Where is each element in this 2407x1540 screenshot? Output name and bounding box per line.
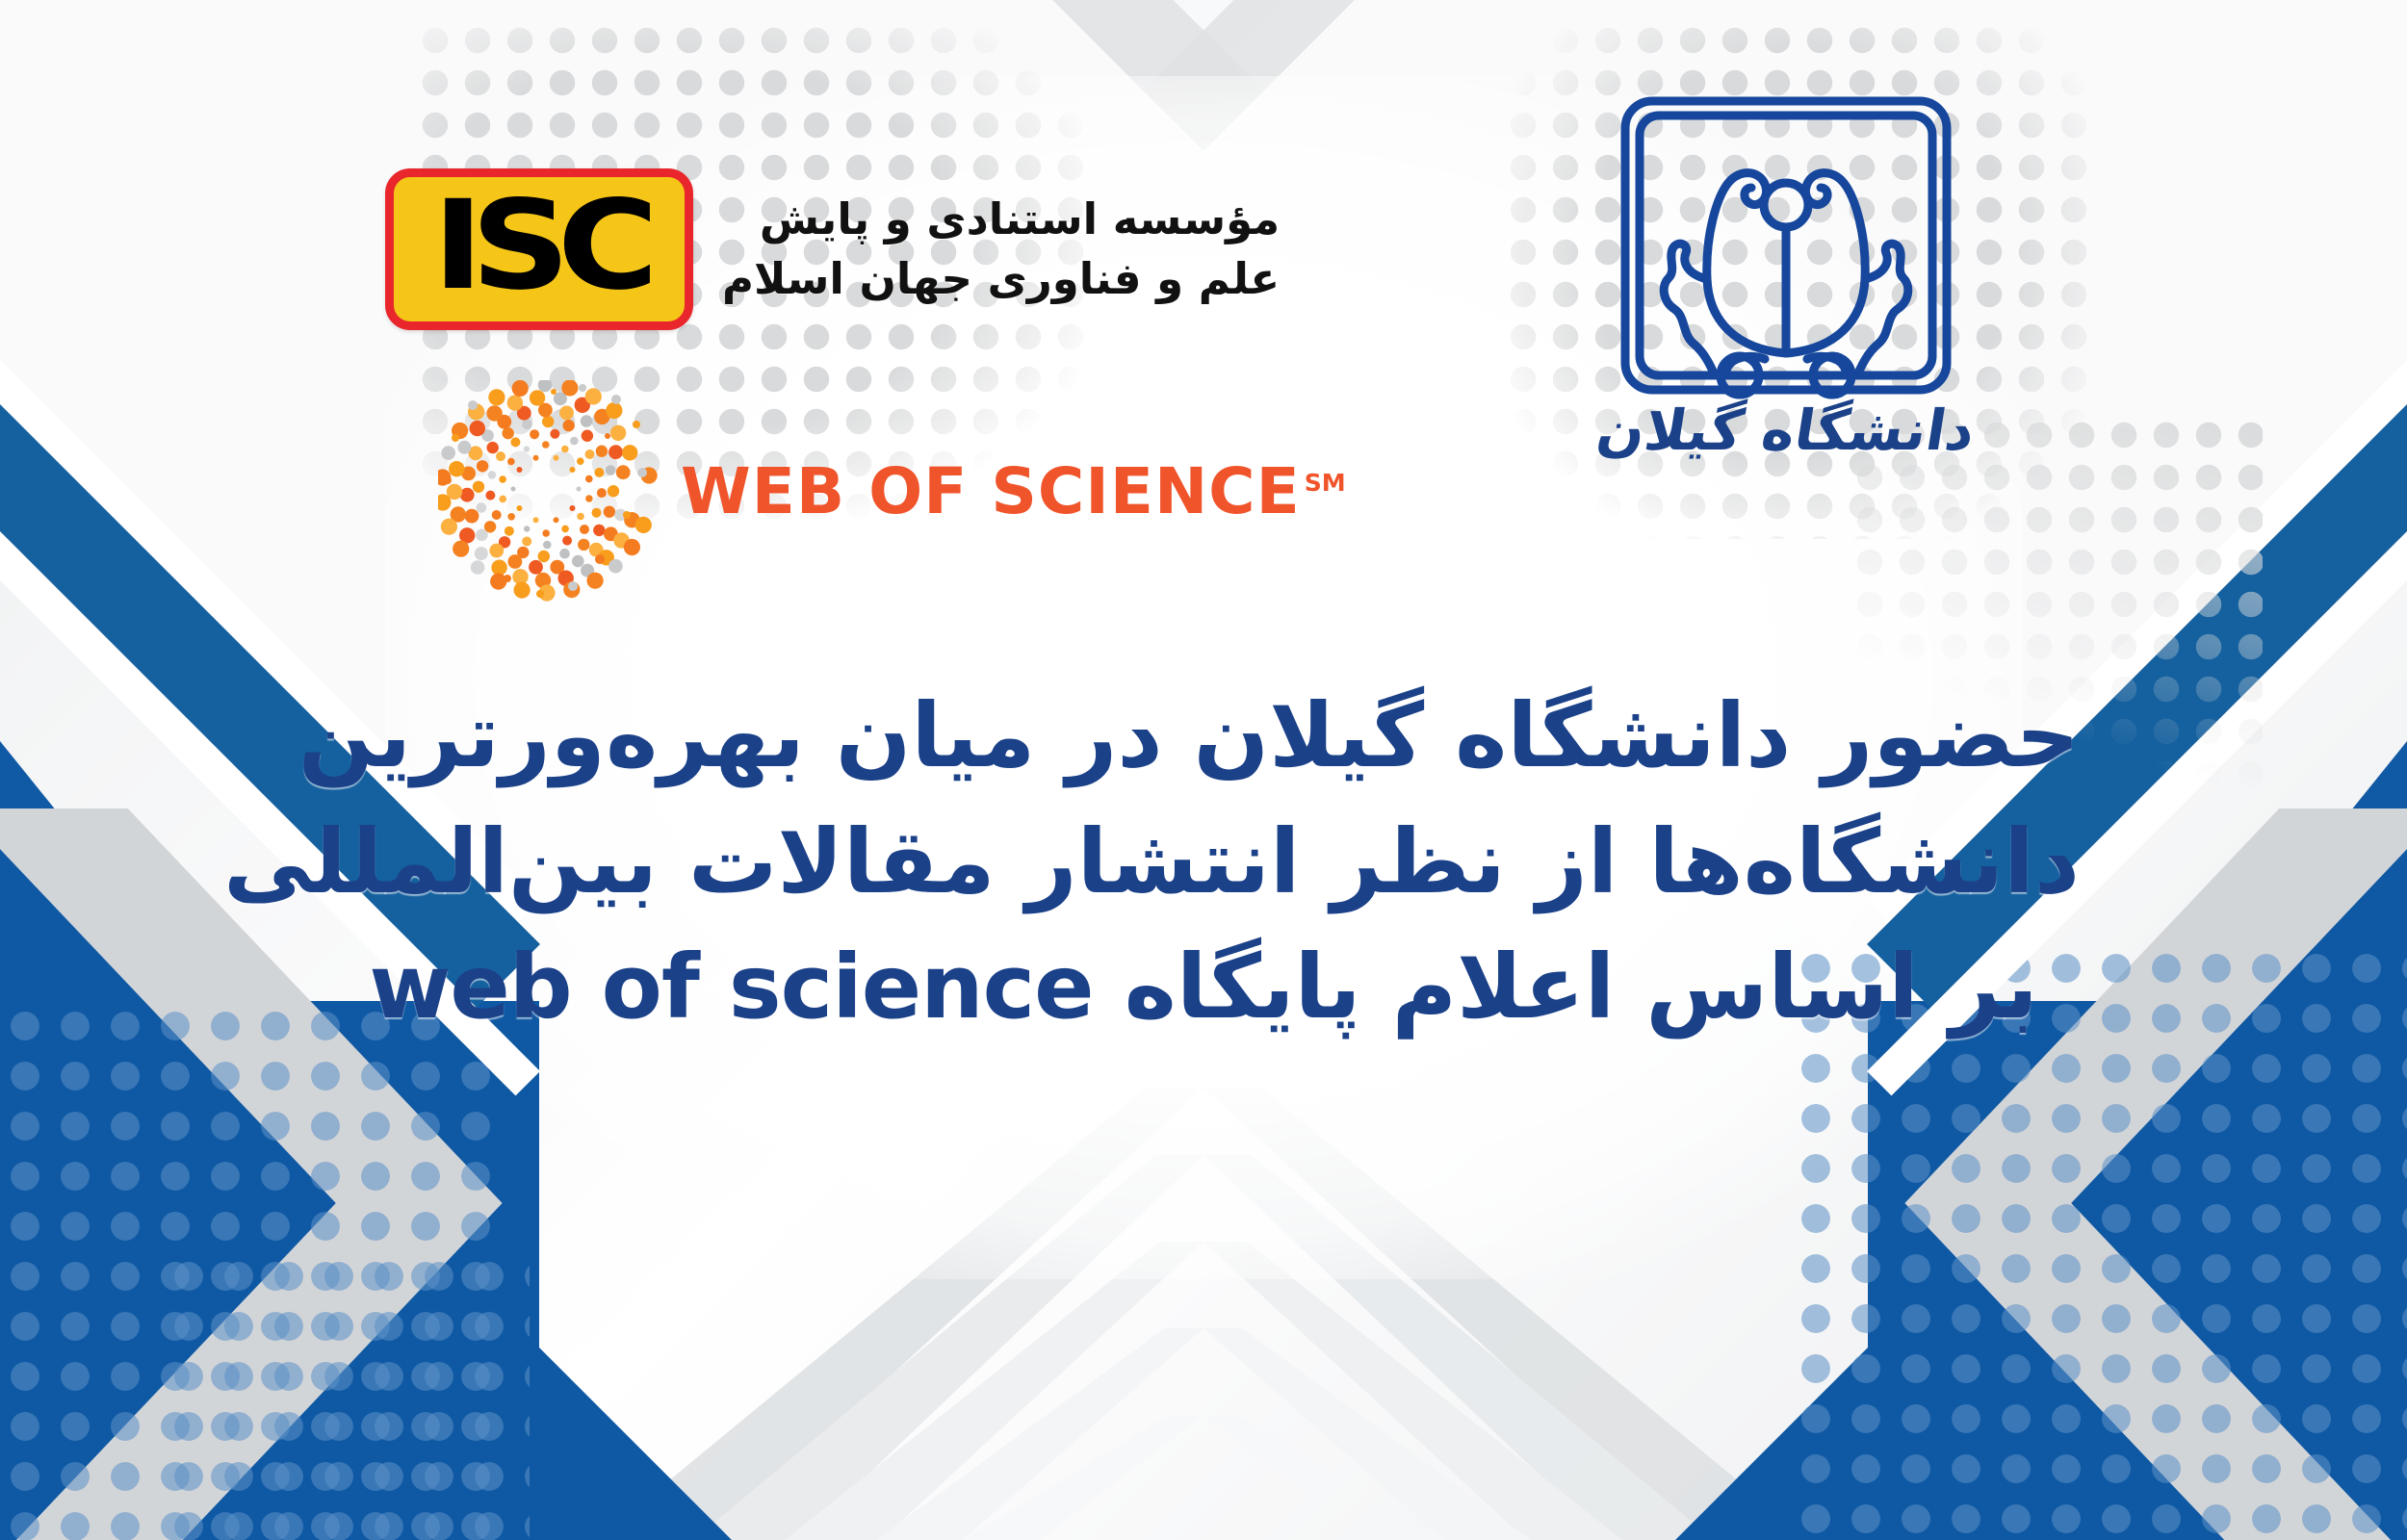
headline-line-1: حضور دانشگاه گیلان در میان بهره‌ورترین <box>327 674 2080 800</box>
service-mark: SM <box>1305 469 1346 497</box>
poster-canvas: مؤسسه استنادی و پایش علم و فناوری جهان ا… <box>0 0 2407 1540</box>
isc-caption-line-1: مؤسسه استنادی و پایش <box>722 190 1280 249</box>
headline-line-3-ltr: web of science <box>369 936 1093 1039</box>
guilan-caption: دانشگاه گیلان <box>1555 398 2018 463</box>
headline: حضور دانشگاه گیلان در میان بهره‌ورترین د… <box>327 674 2080 1051</box>
web-of-science-logo: WEB OF SCIENCESM <box>438 380 1346 602</box>
isc-caption-line-2: علم و فناوری جهان اسلام <box>722 249 1280 309</box>
headline-line-3: بر اساس اعلام پایگاه web of science <box>327 925 2080 1051</box>
isc-badge-icon: ISC <box>385 168 693 330</box>
isc-logo: مؤسسه استنادی و پایش علم و فناوری جهان ا… <box>385 168 1280 330</box>
web-of-science-wordmark: WEB OF SCIENCESM <box>681 454 1346 528</box>
headline-line-2: دانشگاه‌ها از نظر انتشار مقالات بین‌المل… <box>327 800 2080 926</box>
isc-wordmark: ISC <box>432 185 645 308</box>
web-of-science-text: WEB OF SCIENCE <box>681 454 1301 528</box>
isc-caption: مؤسسه استنادی و پایش علم و فناوری جهان ا… <box>722 190 1280 309</box>
university-of-guilan-logo: دانشگاه گیلان <box>1560 82 2012 463</box>
headline-line-3-rtl: بر اساس اعلام پایگاه <box>1125 936 2038 1039</box>
web-of-science-dots-icon <box>438 380 660 602</box>
guilan-emblem-icon <box>1593 82 1979 399</box>
